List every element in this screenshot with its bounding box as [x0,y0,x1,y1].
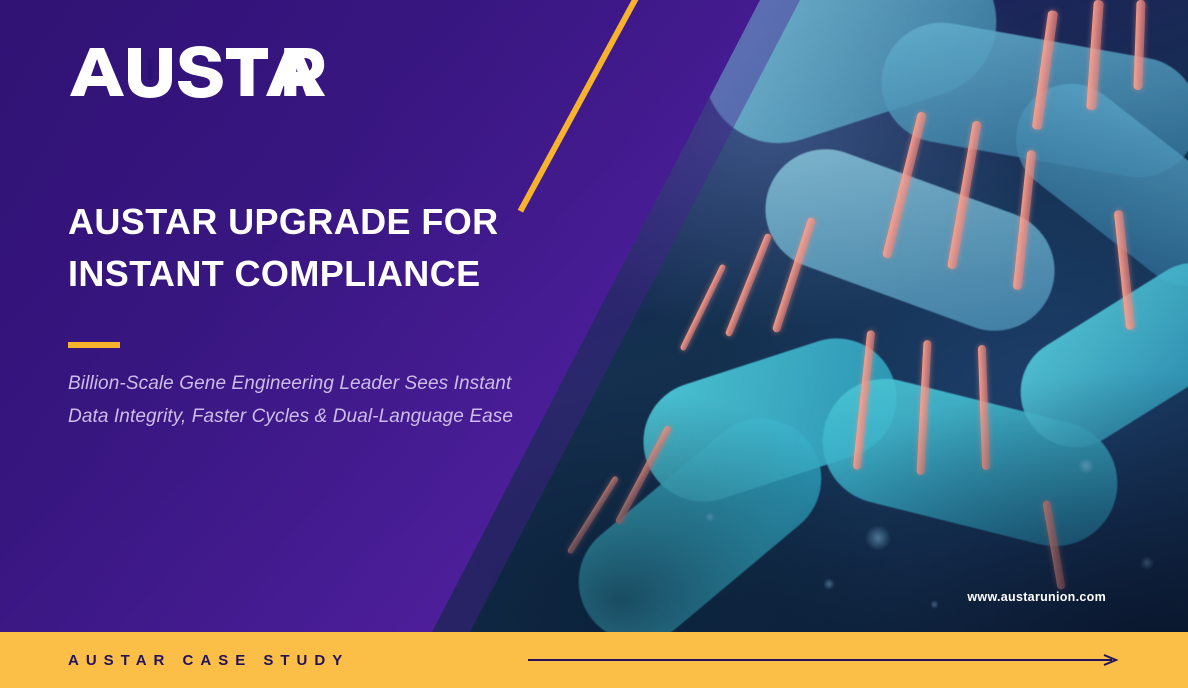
slide: AUSTAR UPGRADE FOR INSTANT COMPLIANCE Bi… [0,0,1188,688]
page-title: AUSTAR UPGRADE FOR INSTANT COMPLIANCE [68,196,588,300]
footer-label: AUSTAR CASE STUDY [68,652,349,669]
website-url[interactable]: www.austarunion.com [967,590,1106,604]
gold-divider-rule [68,342,120,348]
title-line-1: AUSTAR UPGRADE FOR [68,196,588,248]
austar-logo [68,44,348,100]
title-line-2: INSTANT COMPLIANCE [68,248,588,300]
footer-bar: AUSTAR CASE STUDY [0,632,1188,688]
subtitle-text: Billion-Scale Gene Engineering Leader Se… [68,368,528,433]
arrow-right-icon [528,654,1122,666]
